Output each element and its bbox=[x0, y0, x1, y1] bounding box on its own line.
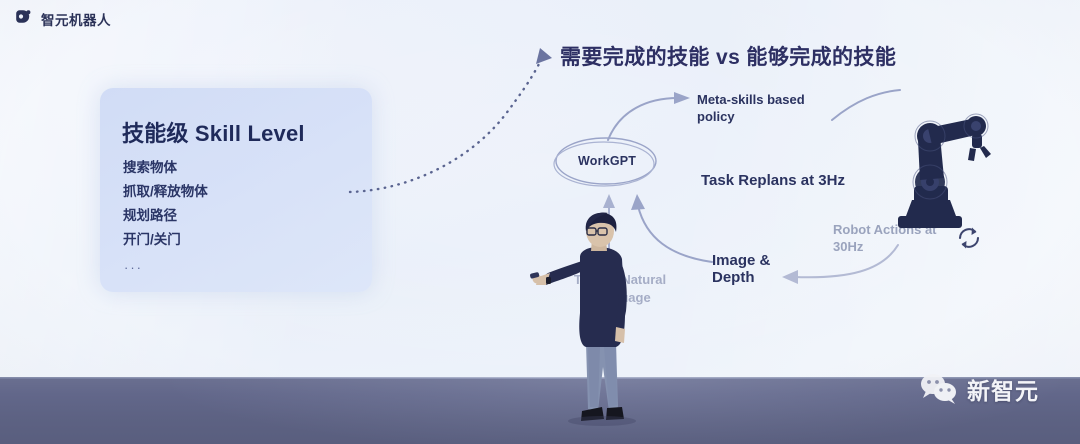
brand-name: 智元机器人 bbox=[41, 9, 111, 29]
robot-brand-logo-icon bbox=[14, 10, 33, 29]
slide-screenshot: 智元机器人 技能级 Skill Level 搜索物体 抓取/释放物体 规划路径 … bbox=[0, 0, 1080, 444]
skill-list: 搜索物体 抓取/释放物体 规划路径 开门/关门 bbox=[123, 156, 208, 252]
list-item: 搜索物体 bbox=[123, 156, 208, 180]
list-item: 规划路径 bbox=[123, 204, 208, 228]
dotted-curved-arrow-icon bbox=[340, 40, 590, 220]
node-meta-skills-policy: Meta-skills based policy bbox=[697, 91, 805, 125]
refresh-loop-icon bbox=[956, 225, 982, 251]
list-item: 开门/关门 bbox=[123, 228, 208, 252]
presenter-figure bbox=[530, 215, 660, 444]
node-task-replans: Task Replans at 3Hz bbox=[701, 172, 845, 189]
wechat-icon bbox=[918, 372, 960, 406]
list-item: 抓取/释放物体 bbox=[123, 180, 208, 204]
workgpt-label: WorkGPT bbox=[578, 154, 636, 168]
page-title: 需要完成的技能 vs 能够完成的技能 bbox=[560, 41, 896, 71]
skill-panel-title: 技能级 Skill Level bbox=[122, 116, 305, 148]
channel-watermark: 新智元 bbox=[918, 372, 1039, 406]
skill-list-ellipsis: ··· bbox=[124, 260, 143, 275]
watermark-text: 新智元 bbox=[967, 372, 1039, 406]
robot-arm-icon bbox=[884, 104, 1002, 234]
skill-level-panel: 技能级 Skill Level 搜索物体 抓取/释放物体 规划路径 开门/关门 … bbox=[100, 88, 372, 292]
arrow-robot-actions-loop bbox=[770, 235, 910, 295]
arrow-to-meta-policy bbox=[600, 88, 710, 148]
brand-logo: 智元机器人 bbox=[14, 9, 111, 29]
